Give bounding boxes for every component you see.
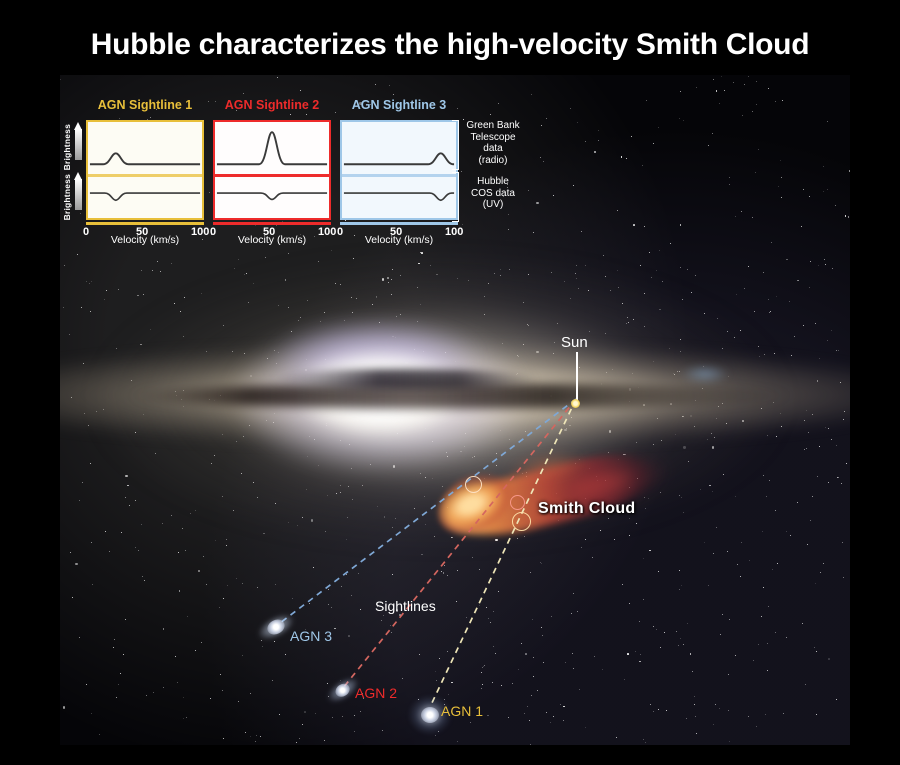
radio-trace-2 (217, 132, 327, 164)
radio-label-line3: data (483, 143, 502, 154)
brightness-arrow-uv (74, 172, 83, 210)
panel-title-1: AGN Sightline 1 (86, 98, 204, 112)
velocity-axis-1 (86, 222, 204, 225)
panel-title-2: AGN Sightline 2 (213, 98, 331, 112)
spectrum-panel-1 (86, 120, 204, 220)
sun-marker (571, 399, 580, 408)
uv-label-line2: COS data (471, 188, 515, 199)
uv-label-line3: (UV) (483, 199, 504, 210)
sightline-agn2 (343, 399, 576, 688)
brightness-label-radio: Brightness (62, 124, 72, 170)
radio-trace-3 (344, 153, 454, 164)
uv-trace-2 (217, 193, 327, 199)
page-title: Hubble characterizes the high-velocity S… (0, 28, 900, 62)
sun-label: Sun (561, 334, 588, 351)
sightline-marker-agn2 (510, 495, 525, 510)
spectrum-traces-2 (215, 122, 329, 218)
spectra-inset-chart: Brightness Brightness AGN Sightline 1050… (60, 98, 520, 243)
sightline-marker-agn3 (465, 476, 482, 493)
radio-label-line2: Telescope (470, 132, 515, 143)
sightline-agn3 (276, 399, 576, 626)
xaxis-label-1: Velocity (km/s) (86, 234, 204, 246)
agn1-label: AGN 1 (441, 703, 483, 719)
uv-label-line1: Hubble (477, 176, 509, 187)
uv-trace-1 (90, 193, 200, 200)
spectrum-traces-1 (88, 122, 202, 218)
panel-title-3: AGN Sightline 3 (340, 98, 458, 112)
radio-data-label: Green Bank Telescope data (radio) (462, 120, 524, 166)
bracket-radio (452, 120, 459, 170)
radio-trace-1 (90, 153, 200, 164)
spectrum-panel-3 (340, 120, 458, 220)
xaxis-label-2: Velocity (km/s) (213, 234, 331, 246)
sightlines-label: Sightlines (375, 598, 436, 614)
brightness-label-uv: Brightness (62, 174, 72, 220)
uv-trace-3 (344, 193, 454, 200)
radio-label-line1: Green Bank (466, 120, 519, 131)
bracket-uv (452, 172, 459, 222)
sightline-marker-agn1 (512, 512, 531, 531)
smith-cloud-label: Smith Cloud (538, 500, 636, 518)
agn2-label: AGN 2 (355, 685, 397, 701)
xaxis-label-3: Velocity (km/s) (340, 234, 458, 246)
spectrum-traces-3 (342, 122, 456, 218)
velocity-axis-3 (340, 222, 458, 225)
sun-leader-line (576, 352, 578, 402)
brightness-arrow-radio (74, 122, 83, 160)
infographic-canvas: Hubble characterizes the high-velocity S… (0, 0, 900, 765)
sightline-agn1 (430, 399, 576, 707)
spectrum-panel-2 (213, 120, 331, 220)
agn3-label: AGN 3 (290, 628, 332, 644)
velocity-axis-2 (213, 222, 331, 225)
uv-data-label: Hubble COS data (UV) (462, 176, 524, 211)
radio-label-line4: (radio) (479, 155, 508, 166)
